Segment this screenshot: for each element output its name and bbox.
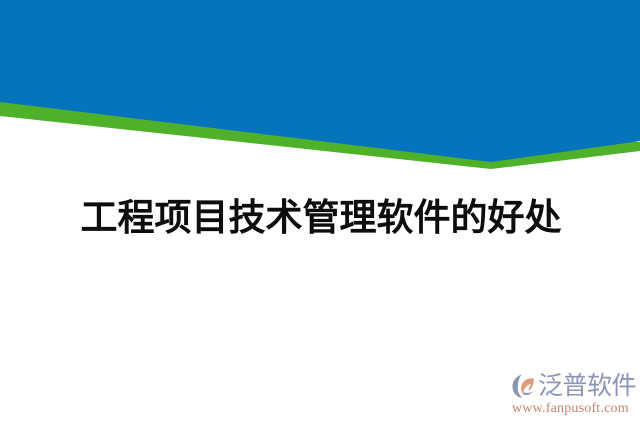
slide-canvas: 工程项目技术管理软件的好处 泛普软件 www.fanpusoft.com [0,0,640,427]
watermark-brand-row: 泛普软件 [510,370,638,402]
fanpu-logo-icon [510,371,540,401]
blue-banner-polygon [0,0,640,162]
page-title-text: 工程项目技术管理软件的好处 [79,196,562,240]
watermark-brand-name: 泛普软件 [538,372,636,400]
banner-shape [0,0,640,180]
header-banner [0,0,640,180]
page-title: 工程项目技术管理软件的好处 [0,196,640,240]
watermark: 泛普软件 www.fanpusoft.com [510,370,638,422]
watermark-url: www.fanpusoft.com [512,401,629,417]
